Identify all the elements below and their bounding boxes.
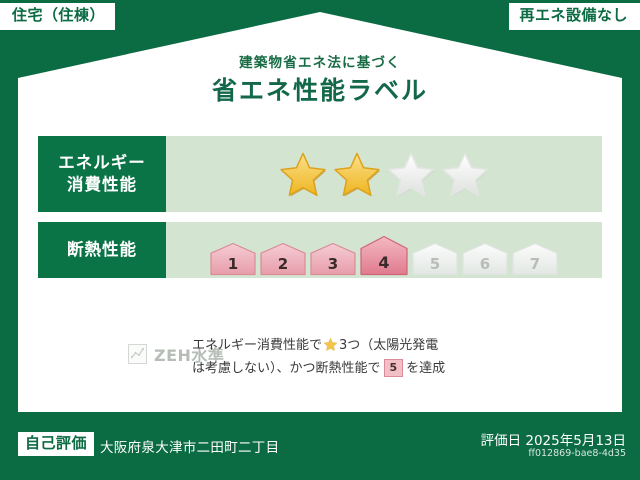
insulation-level-number: 1 [209,257,257,272]
footer-bar: 自己評価 大阪府泉大津市二田町二丁目 評価日 2025年5月13日 ff0128… [0,418,640,480]
property-address: 大阪府泉大津市二田町二丁目 [100,436,279,456]
insulation-performance-value: 1234567 [166,222,602,278]
document-id: ff012869-bae8-4d35 [528,448,626,459]
zeh-desc-part1: エネルギー消費性能で [192,338,322,353]
insulation-level-1: 1 [209,242,257,276]
star-filled-icon [331,149,383,199]
zeh-desc-level-badge: 5 [384,359,404,377]
insulation-level-3: 3 [309,242,357,276]
insulation-level-4: 4 [359,235,409,276]
insulation-performance-label: 断熱性能 [38,222,166,278]
zeh-desc-part2: 3つ（太陽光発電 [339,338,438,353]
insulation-level-number: 3 [309,257,357,272]
insulation-performance-row: 断熱性能 1234567 [38,222,602,278]
insulation-level-7: 7 [511,242,559,276]
energy-performance-label-line2: 消費性能 [67,174,137,196]
energy-performance-value [166,136,602,212]
renewable-energy-badge: 再エネ設備なし [509,3,640,30]
evaluation-date: 評価日 2025年5月13日 [481,429,626,449]
inline-star-icon [323,337,338,352]
title-subtitle: 建築物省エネ法に基づく [0,56,640,71]
building-type-badge: 住宅（住棟） [0,3,115,30]
energy-performance-label: 住宅（住棟） 再エネ設備なし 建築物省エネ法に基づく 省エネ性能ラベル エネルギ… [0,0,640,480]
insulation-level-scale: 1234567 [209,222,559,278]
star-empty-icon [385,149,437,199]
star-filled-icon [277,149,329,199]
zeh-standard-note: ZEH水準 エネルギー消費性能で3つ（太陽光発電は考慮しない）、かつ断熱性能で5… [38,332,602,381]
energy-performance-label: エネルギー 消費性能 [38,136,166,212]
zeh-chart-icon [128,344,147,364]
insulation-level-number: 4 [359,255,409,271]
zeh-desc-part4: を達成 [406,361,445,376]
evaluation-type-chip: 自己評価 [18,432,94,456]
energy-performance-label-line1: エネルギー [58,152,146,174]
insulation-level-6: 6 [461,242,509,276]
star-empty-icon [439,149,491,199]
zeh-desc-part3: は考慮しない）、かつ断熱性能で [192,361,381,376]
label-title: 建築物省エネ法に基づく 省エネ性能ラベル [0,56,640,104]
insulation-level-number: 7 [511,257,559,272]
energy-performance-row: エネルギー 消費性能 [38,136,602,212]
zeh-chip: ZEH水準 [38,342,188,366]
insulation-level-number: 2 [259,257,307,272]
performance-rows: エネルギー 消費性能 断熱性能 1234567 [38,136,602,288]
star-rating [277,149,491,199]
insulation-level-number: 5 [411,257,459,272]
insulation-level-number: 6 [461,257,509,272]
insulation-level-5: 5 [411,242,459,276]
zeh-description: エネルギー消費性能で3つ（太陽光発電は考慮しない）、かつ断熱性能で5を達成 [188,332,602,381]
title-main: 省エネ性能ラベル [0,77,640,105]
insulation-level-2: 2 [259,242,307,276]
